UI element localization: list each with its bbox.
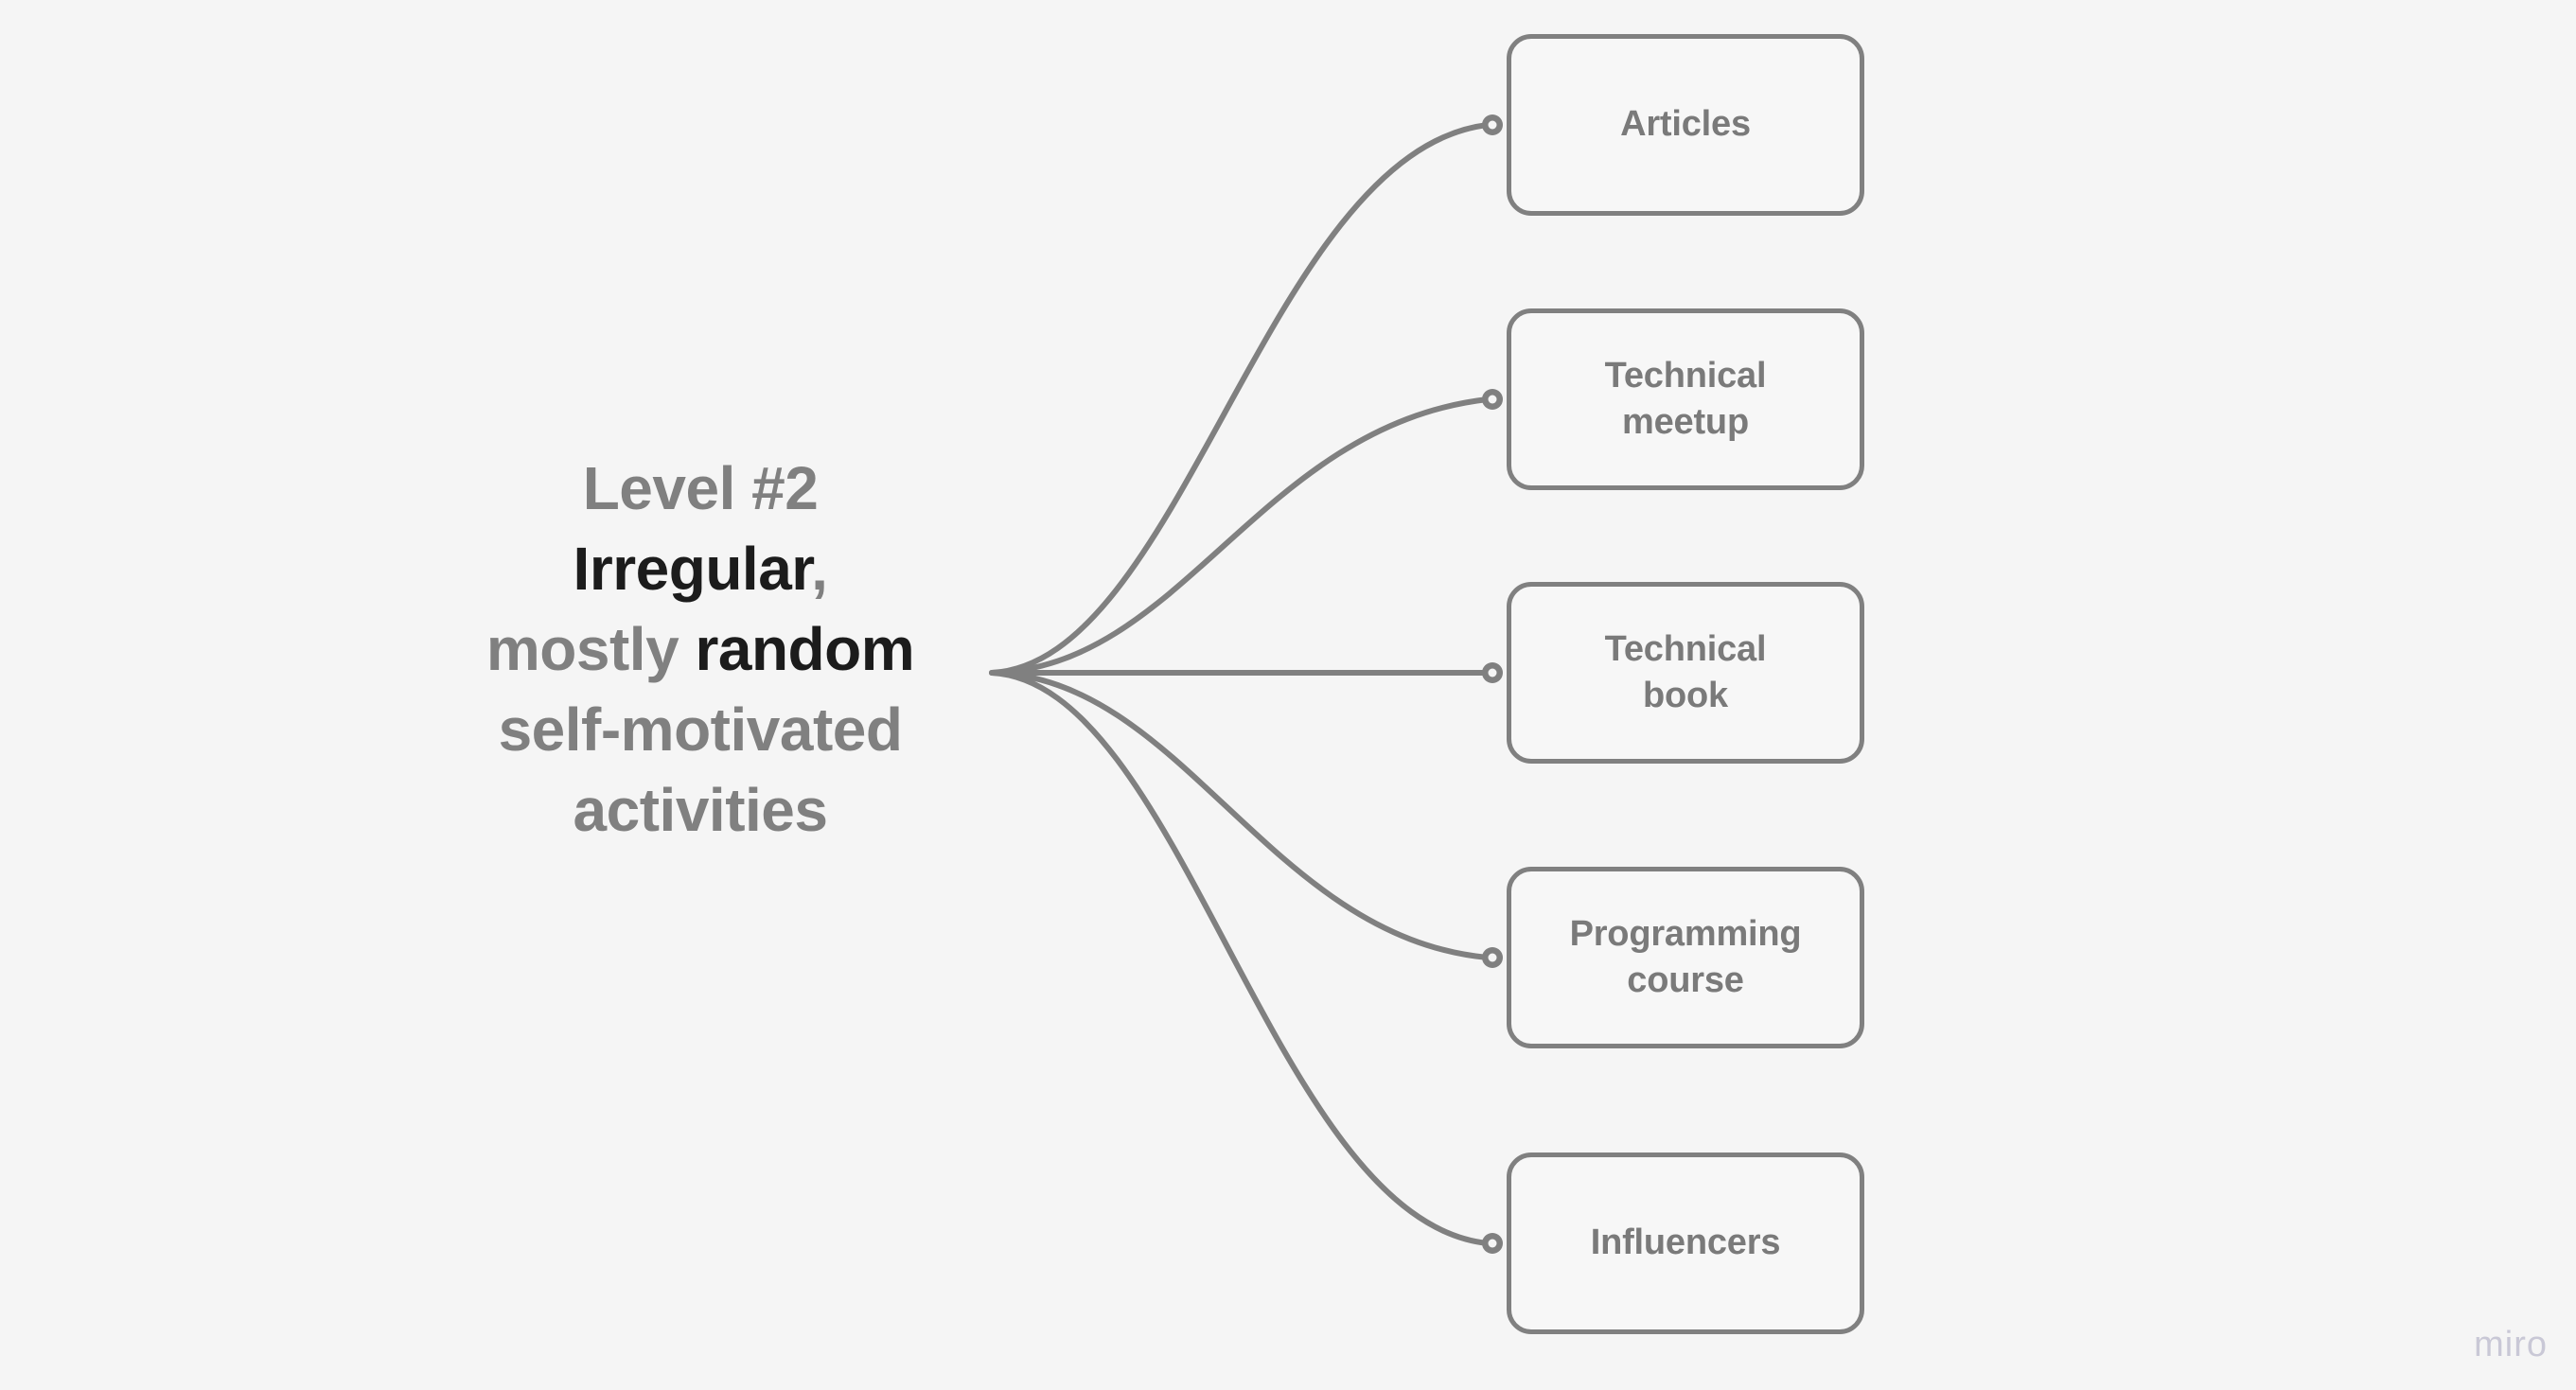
connector-layer — [0, 0, 2576, 1390]
connector-to-articles[interactable] — [992, 125, 1488, 673]
connector-endpoint-technical-meetup[interactable] — [1482, 389, 1503, 410]
central-label-line: self-motivated — [407, 690, 994, 770]
node-label-technical-book: Technical book — [1590, 626, 1782, 720]
node-articles[interactable]: Articles — [1507, 34, 1864, 216]
mindmap-canvas: Level #2Irregular,mostly randomself-moti… — [0, 0, 2576, 1390]
connector-to-programming-course[interactable] — [992, 673, 1488, 958]
central-label-emphasis: Irregular — [573, 535, 812, 603]
endpoint-dot-icon — [1489, 396, 1497, 404]
connector-endpoint-technical-book[interactable] — [1482, 662, 1503, 683]
connector-endpoint-influencers[interactable] — [1482, 1233, 1503, 1254]
connector-endpoint-articles[interactable] — [1482, 114, 1503, 135]
node-influencers[interactable]: Influencers — [1507, 1152, 1864, 1334]
central-label-line: activities — [407, 770, 994, 851]
connector-to-influencers[interactable] — [992, 673, 1488, 1243]
central-label-line: Irregular, — [407, 529, 994, 609]
connector-to-technical-meetup[interactable] — [992, 399, 1488, 673]
node-label-programming-course: Programming course — [1555, 911, 1817, 1005]
node-technical-meetup[interactable]: Technical meetup — [1507, 308, 1864, 490]
node-label-articles: Articles — [1605, 101, 1766, 148]
node-label-technical-meetup: Technical meetup — [1590, 353, 1782, 447]
central-label-text: mostly — [486, 615, 696, 683]
endpoint-dot-icon — [1489, 121, 1497, 130]
central-label-text: activities — [573, 776, 828, 844]
endpoint-dot-icon — [1489, 954, 1497, 962]
central-label-line: mostly random — [407, 609, 994, 690]
connector-endpoint-programming-course[interactable] — [1482, 947, 1503, 968]
node-label-influencers: Influencers — [1576, 1220, 1796, 1266]
central-label-text: self-motivated — [499, 695, 903, 764]
central-label-emphasis: random — [695, 615, 914, 683]
central-label-text: , — [811, 535, 827, 603]
endpoint-dot-icon — [1489, 669, 1497, 677]
node-programming-course[interactable]: Programming course — [1507, 867, 1864, 1048]
central-label[interactable]: Level #2Irregular,mostly randomself-moti… — [407, 449, 994, 852]
central-label-text: Level #2 — [583, 454, 819, 522]
node-technical-book[interactable]: Technical book — [1507, 582, 1864, 764]
miro-watermark: miro — [2474, 1325, 2548, 1365]
endpoint-dot-icon — [1489, 1240, 1497, 1248]
central-label-line: Level #2 — [407, 449, 994, 529]
